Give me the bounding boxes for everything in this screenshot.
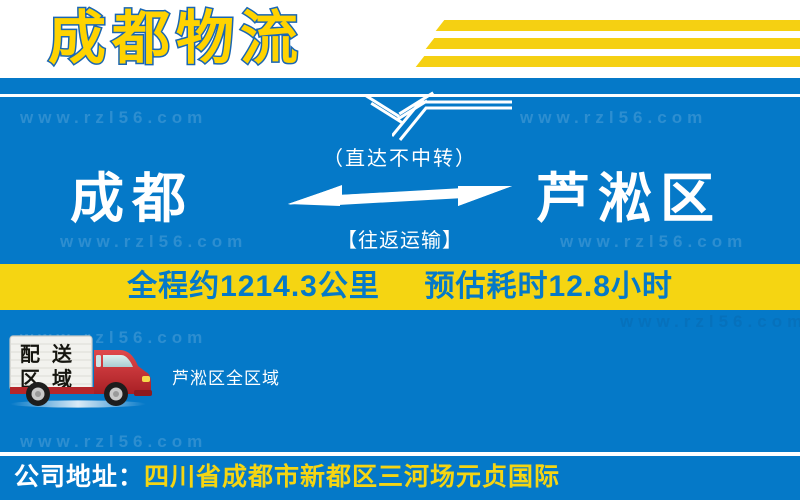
watermark: www.rzl56.com (520, 108, 707, 128)
header-banner: 成都物流 (0, 0, 800, 78)
footer-gap (0, 448, 800, 450)
decorative-stripe-2 (426, 38, 800, 49)
watermark: www.rzl56.com (60, 232, 247, 252)
logistics-poster: 成都物流 www.rzl56.com www.rzl56.com www.rzl… (0, 0, 800, 500)
stats-row: 全程约1214.3公里 预估耗时12.8小时 (0, 266, 800, 308)
decorative-stripe-3 (416, 56, 800, 67)
svg-text:配: 配 (20, 343, 40, 366)
delivery-coverage-text: 芦淞区全区域 (172, 364, 280, 389)
distance-text: 全程约1214.3公里 (127, 270, 380, 303)
company-address-value: 四川省成都市新都区三河场元贞国际 (144, 463, 560, 491)
company-address: 公司地址：四川省成都市新都区三河场元贞国际 (14, 462, 560, 492)
watermark: www.rzl56.com (560, 232, 747, 252)
footer-divider-rule (0, 452, 800, 456)
route-note-direct: （直达不中转） (285, 142, 515, 171)
watermark: www.rzl56.com (620, 312, 800, 332)
origin-city: 成都 (70, 168, 194, 230)
watermark: www.rzl56.com (20, 108, 207, 128)
duration-text: 预估耗时12.8小时 (425, 270, 673, 303)
company-address-label: 公司地址： (14, 463, 144, 491)
delivery-truck-icon: 配 送 区 域 (8, 332, 154, 410)
corner-arrow-icon (392, 96, 512, 142)
page-title: 成都物流 (48, 4, 304, 74)
route-note-roundtrip: 【往返运输】 (285, 224, 515, 253)
destination-city: 芦淞区 (536, 168, 722, 230)
double-arrow-icon (288, 182, 512, 218)
svg-text:送: 送 (52, 342, 73, 366)
decorative-stripe-1 (436, 20, 800, 31)
